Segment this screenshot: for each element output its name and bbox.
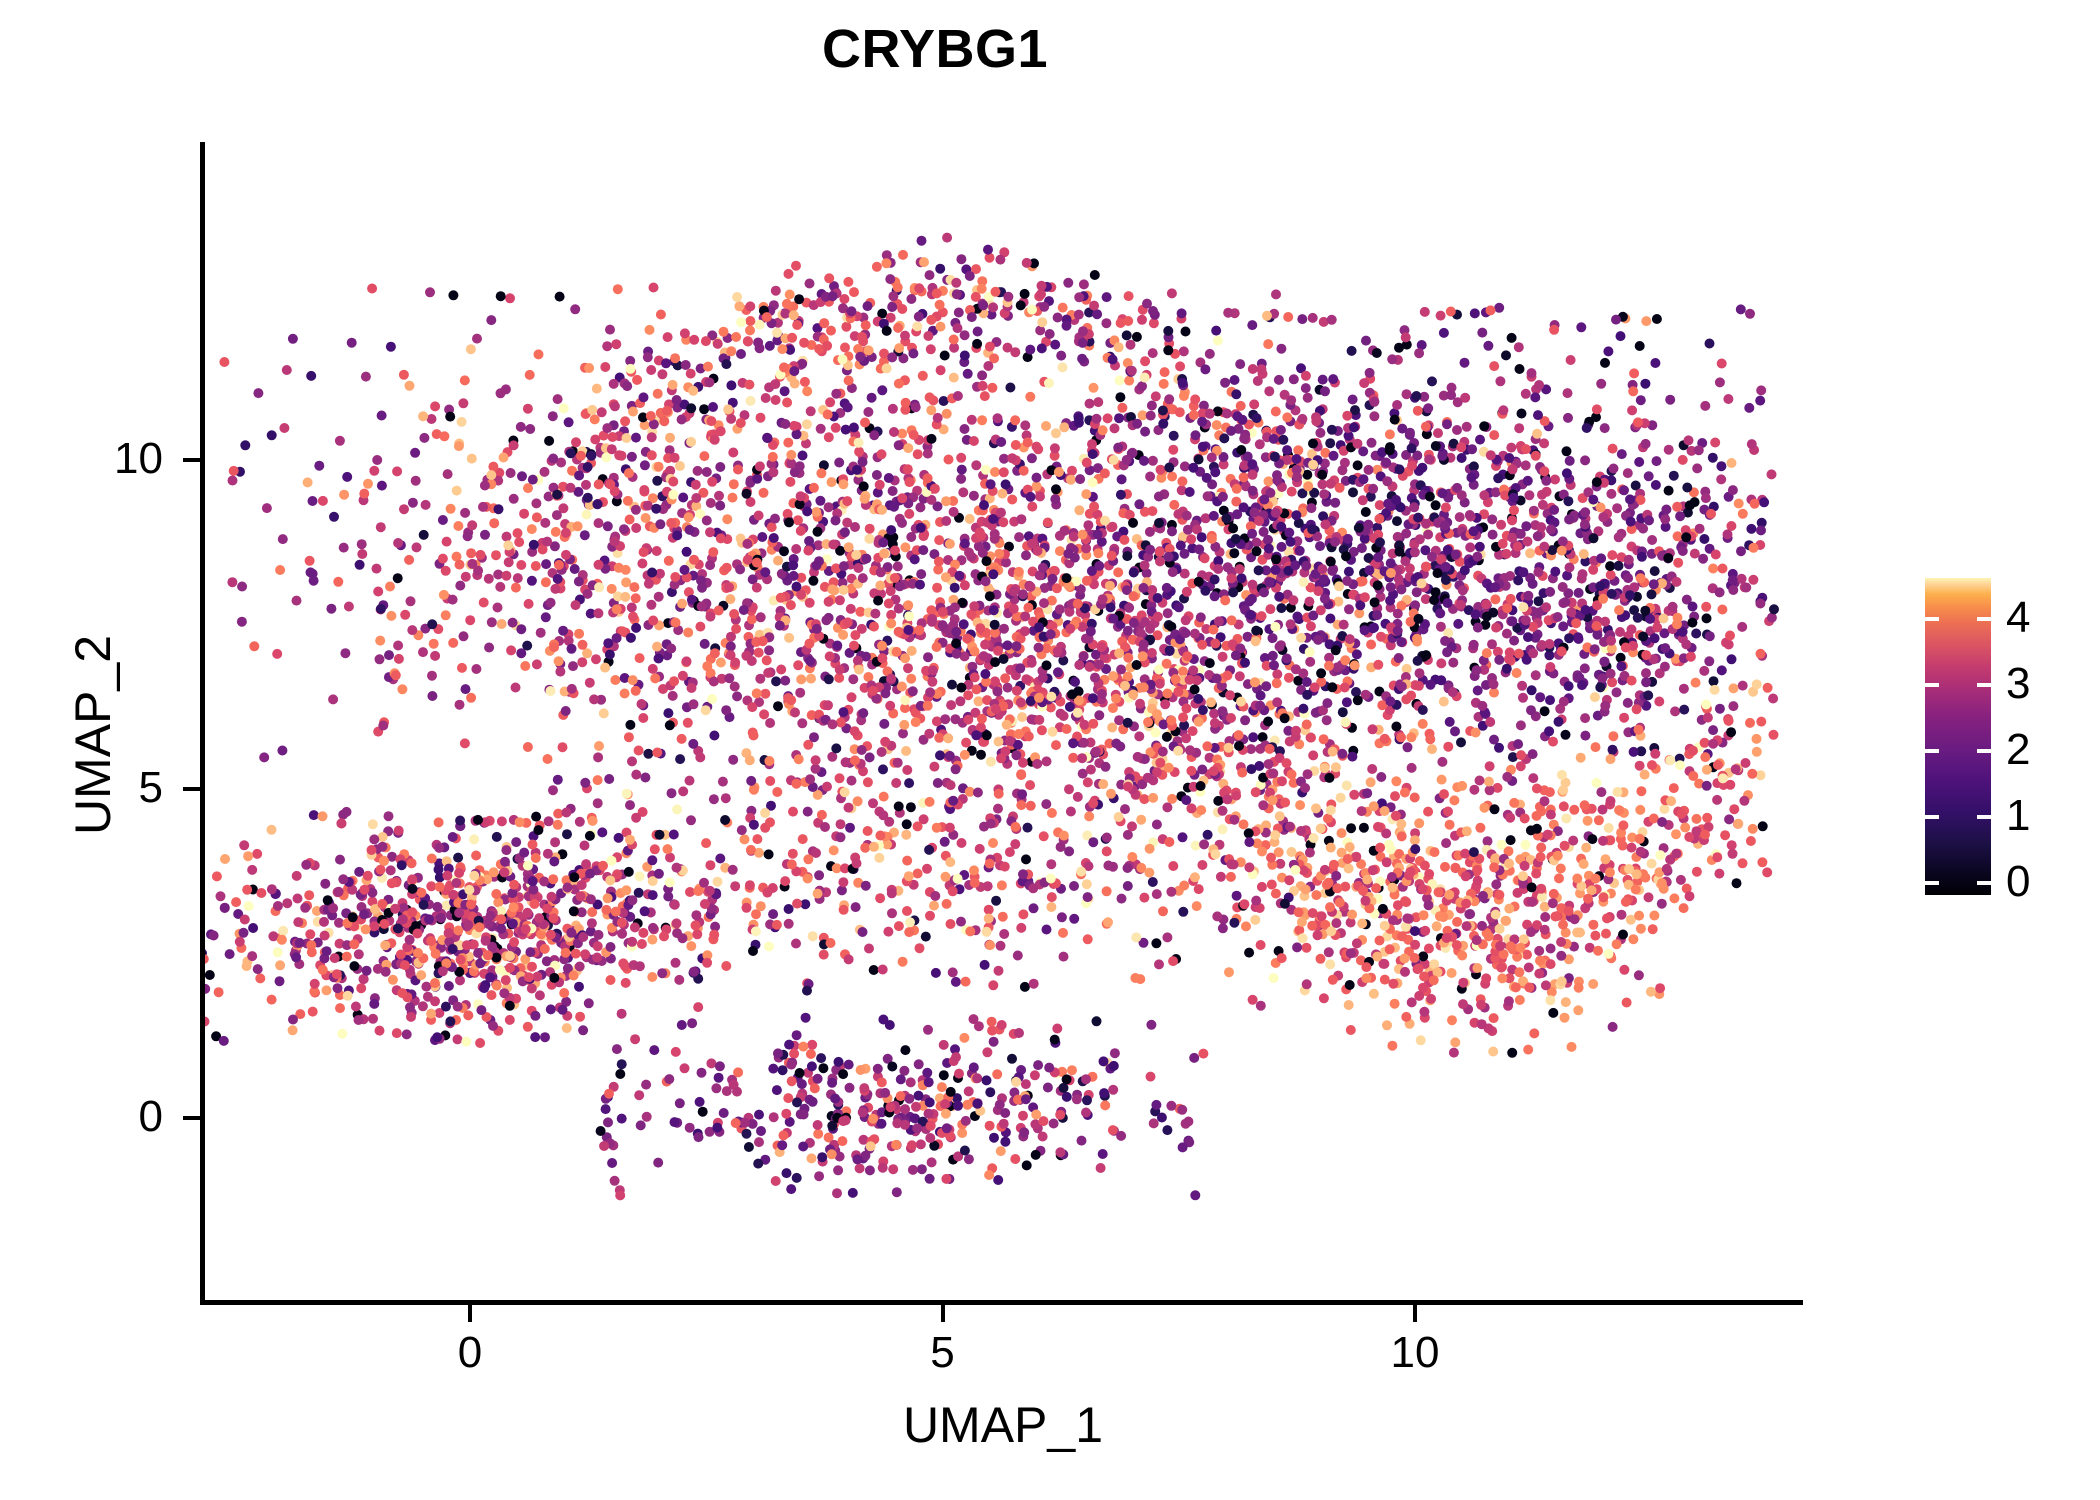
colorbar-tick-label: 1 [2006,794,2030,838]
x-tick-label: 5 [883,1331,1003,1375]
colorbar-tick-mark [1925,683,1939,687]
y-axis-line [200,142,205,1304]
colorbar-tick-mark [1977,815,1991,819]
colorbar-tick-label: 4 [2006,596,2030,640]
scatter-points-layer [203,142,1803,1302]
colorbar-tick-label: 0 [2006,860,2030,904]
colorbar-gradient [1925,578,1991,895]
x-axis-line [200,1300,1803,1305]
scatter-plot-panel [203,142,1803,1302]
colorbar-tick-mark [1977,683,1991,687]
x-tick-mark [941,1305,945,1322]
x-tick-mark [468,1305,472,1322]
y-tick-label: 0 [43,1095,163,1139]
y-tick-mark [183,458,200,462]
x-tick-label: 10 [1355,1331,1475,1375]
chart-root: CRYBG1 05100510 UMAP_1 UMAP_2 01234 [0,0,2100,1500]
x-axis-title: UMAP_1 [203,1400,1803,1450]
y-axis-title: UMAP_2 [68,385,118,1085]
x-tick-label: 0 [410,1331,530,1375]
page-title: CRYBG1 [0,22,1870,76]
y-tick-mark [183,787,200,791]
colorbar-tick-mark [1977,749,1991,753]
colorbar-tick-label: 3 [2006,662,2030,706]
colorbar-tick-mark [1925,617,1939,621]
colorbar-tick-mark [1977,617,1991,621]
colorbar-tick-label: 2 [2006,728,2030,772]
x-tick-mark [1413,1305,1417,1322]
colorbar-legend: 01234 [1920,574,2090,904]
colorbar-tick-mark [1925,881,1939,885]
colorbar-tick-mark [1925,749,1939,753]
colorbar-tick-mark [1977,881,1991,885]
colorbar-tick-mark [1925,815,1939,819]
y-tick-mark [183,1116,200,1120]
